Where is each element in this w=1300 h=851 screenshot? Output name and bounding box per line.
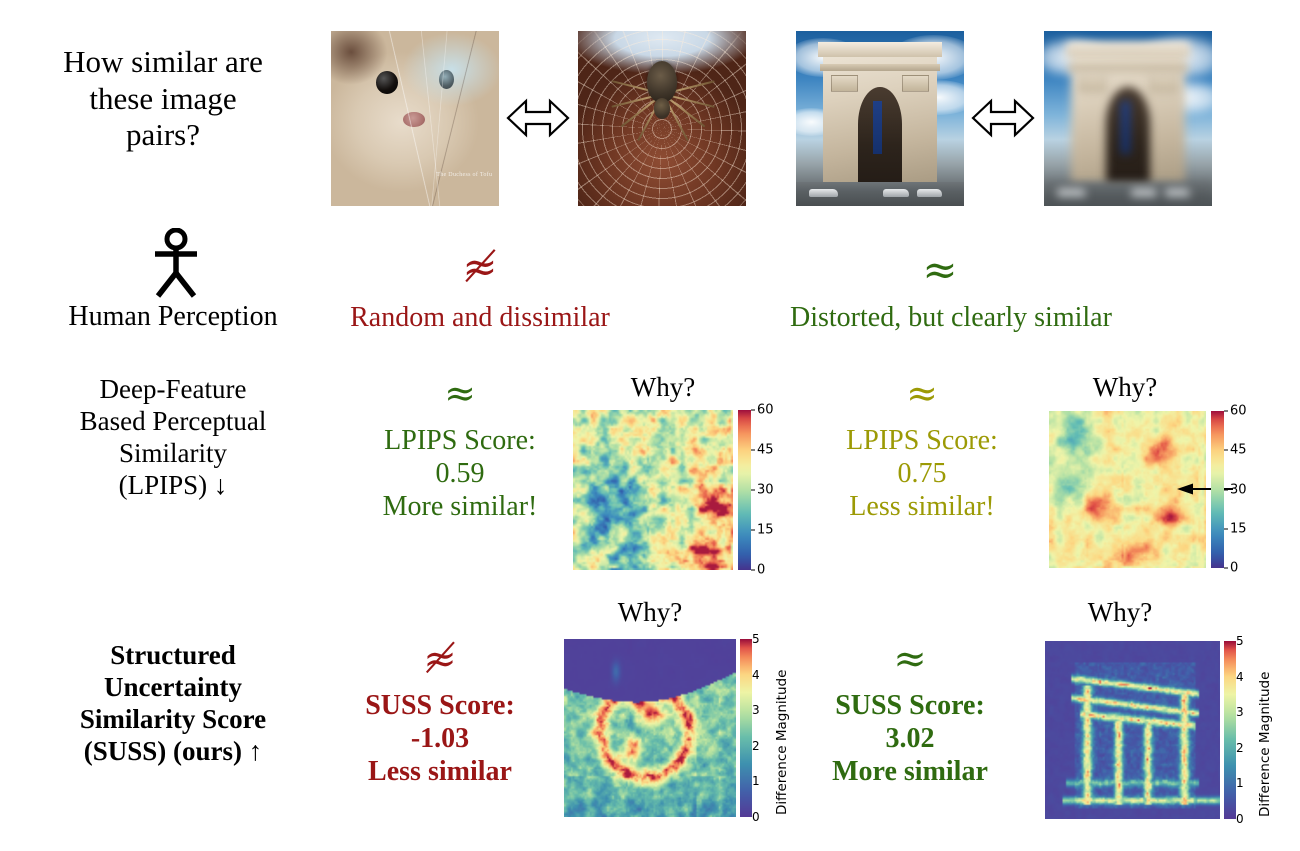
suss-colorbar-title-pair1: Difference Magnitude: [774, 670, 790, 815]
row-label-lpips-line-1: Deep-Feature: [8, 374, 338, 406]
question-line-1: How similar are: [18, 44, 308, 81]
lpips-cbar-tick-15-pair2: 15: [1224, 521, 1247, 536]
human-symbol-pair2: ≈: [830, 249, 1050, 291]
lpips-score-verdict-pair2: Less similar!: [812, 491, 1032, 524]
lpips-colorbar-pair1: 60 45 30 15 0: [738, 410, 751, 570]
spider-abdomen: [647, 61, 677, 103]
row-label-lpips-line-2: Based Perceptual: [8, 406, 338, 438]
arc-vehicle-1: [809, 189, 838, 198]
arc-cornice: [820, 64, 939, 71]
suss-cbar-tick-1-pair2: 1: [1236, 776, 1244, 790]
question-line-2: these image: [18, 81, 308, 118]
double-headed-arrow-icon-pair2: [971, 94, 1035, 142]
suss-score-label-pair1: SUSS Score:: [330, 690, 550, 723]
hamster-watermark: The Duchess of Tofu: [436, 172, 492, 178]
suss-colorbar-title-pair2: Difference Magnitude: [1257, 672, 1273, 817]
lpips-cbar-tick-0-pair2: 0: [1224, 561, 1238, 576]
lpips-score-value-pair1: 0.59: [350, 458, 570, 491]
arc-vehicle-blur-1: [1057, 189, 1086, 198]
arc-vehicle-blur-3: [1165, 189, 1190, 198]
spider-photo[interactable]: [578, 31, 746, 206]
why-label-suss-pair2: Why?: [1030, 597, 1210, 628]
arc-vehicle-3: [917, 189, 942, 198]
lpips-heatmap-hamster-spider[interactable]: [573, 410, 733, 570]
suss-colorbar-pair1: 5 4 3 2 1 0 Difference Magnitude: [740, 639, 752, 817]
row-label-suss-line-2: Uncertainty: [8, 672, 338, 704]
row-label-lpips-line-4: (LPIPS) ↓: [8, 470, 338, 502]
suss-colorbar-pair2: 5 4 3 2 1 0 Difference Magnitude: [1224, 641, 1236, 819]
lpips-score-label-pair2: LPIPS Score:: [812, 425, 1032, 458]
row-label-lpips: Deep-Feature Based Perceptual Similarity…: [8, 374, 338, 501]
hamster-photo[interactable]: The Duchess of Tofu: [331, 31, 499, 206]
arc-de-triomphe-blurred-photo[interactable]: [1044, 31, 1212, 206]
suss-cbar-tick-0-pair1: 0: [752, 810, 760, 824]
lpips-symbol-pair1: ≈: [350, 374, 570, 412]
suss-symbol-pair2: ≈: [800, 639, 1020, 679]
suss-score-verdict-pair1: Less similar: [330, 756, 550, 789]
lpips-colorbar-pair2: 60 45 30 15 0: [1211, 411, 1224, 568]
arc-vehicle-blur-2: [1131, 189, 1156, 198]
lpips-score-label-pair1: LPIPS Score:: [350, 425, 570, 458]
arc-relief-left: [831, 75, 858, 93]
arc-flag-blur: [1121, 101, 1129, 154]
lpips-cbar-tick-0-pair1: 0: [751, 563, 765, 578]
question-line-3: pairs?: [18, 117, 308, 154]
arc-attic: [818, 42, 942, 58]
why-label-suss-pair1: Why?: [560, 597, 740, 628]
human-verdict-pair1: Random and dissimilar: [350, 302, 610, 334]
suss-cbar-tick-1-pair1: 1: [752, 774, 760, 788]
question-prompt: How similar are these image pairs?: [18, 44, 308, 154]
arc-relief-right-blur: [1150, 75, 1177, 93]
arc-relief-left-blur: [1079, 75, 1106, 93]
suss-cbar-tick-5-pair2: 5: [1236, 634, 1244, 648]
suss-cbar-tick-4-pair1: 4: [752, 668, 760, 682]
row-label-human-perception-text: Human Perception: [8, 300, 338, 333]
stick-figure-icon: [147, 228, 205, 298]
suss-heatmap-hamster-spider[interactable]: [564, 639, 736, 817]
hamster-whiskers: [331, 31, 499, 206]
suss-cbar-tick-2-pair1: 2: [752, 739, 760, 753]
arc-de-triomphe-photo[interactable]: [796, 31, 964, 206]
row-label-lpips-line-3: Similarity: [8, 438, 338, 470]
arc-relief-right: [902, 75, 929, 93]
row-label-human-perception: Human Perception: [8, 300, 338, 333]
suss-cbar-tick-2-pair2: 2: [1236, 741, 1244, 755]
lpips-cbar-tick-45-pair2: 45: [1224, 443, 1247, 458]
row-label-suss: Structured Uncertainty Similarity Score …: [8, 640, 338, 767]
arc-attic-blur: [1066, 42, 1190, 58]
suss-cbar-tick-0-pair2: 0: [1236, 812, 1244, 826]
human-verdict-pair2: Distorted, but clearly similar: [790, 302, 1090, 334]
suss-score-block-pair1: SUSS Score: -1.03 Less similar: [330, 690, 550, 788]
lpips-score-verdict-pair1: More similar!: [350, 491, 570, 524]
lpips-cbar-tick-45-pair1: 45: [751, 443, 774, 458]
lpips-cbar-tick-15-pair1: 15: [751, 523, 774, 538]
lpips-symbol-pair2: ≈: [812, 374, 1032, 412]
lpips-score-block-pair2: LPIPS Score: 0.75 Less similar!: [812, 425, 1032, 523]
suss-cbar-tick-3-pair2: 3: [1236, 705, 1244, 719]
suss-symbol-pair1: ≉: [330, 639, 550, 679]
arc-vehicle-2: [883, 189, 908, 198]
double-headed-arrow-icon-pair1: [506, 94, 570, 142]
suss-cbar-tick-4-pair2: 4: [1236, 670, 1244, 684]
lpips-cbar-tick-60-pair1: 60: [751, 403, 774, 418]
suss-score-block-pair2: SUSS Score: 3.02 More similar: [800, 690, 1020, 788]
why-label-lpips-pair2: Why?: [1040, 372, 1210, 403]
why-label-lpips-pair1: Why?: [578, 372, 748, 403]
lpips-cbar-tick-30-pair1: 30: [751, 483, 774, 498]
suss-score-value-pair2: 3.02: [800, 723, 1020, 756]
lpips-cbar-tick-30-pair2: 30: [1224, 482, 1247, 497]
arc-cornice-blur: [1068, 64, 1187, 71]
suss-score-verdict-pair2: More similar: [800, 756, 1020, 789]
suss-score-label-pair2: SUSS Score:: [800, 690, 1020, 723]
human-symbol-pair1: ≉: [370, 246, 590, 288]
row-label-suss-line-4: (SUSS) (ours) ↑: [8, 736, 338, 768]
row-label-suss-line-1: Structured: [8, 640, 338, 672]
suss-cbar-tick-3-pair1: 3: [752, 703, 760, 717]
row-label-suss-line-3: Similarity Score: [8, 704, 338, 736]
suss-cbar-tick-5-pair1: 5: [752, 632, 760, 646]
lpips-score-value-pair2: 0.75: [812, 458, 1032, 491]
suss-score-value-pair1: -1.03: [330, 723, 550, 756]
spider-legs: [578, 31, 746, 206]
arc-flag: [873, 101, 881, 154]
lpips-cbar-tick-60-pair2: 60: [1224, 404, 1247, 419]
lpips-score-block-pair1: LPIPS Score: 0.59 More similar!: [350, 425, 570, 523]
suss-heatmap-arc-pair[interactable]: [1045, 641, 1220, 819]
spider-head: [654, 98, 671, 119]
